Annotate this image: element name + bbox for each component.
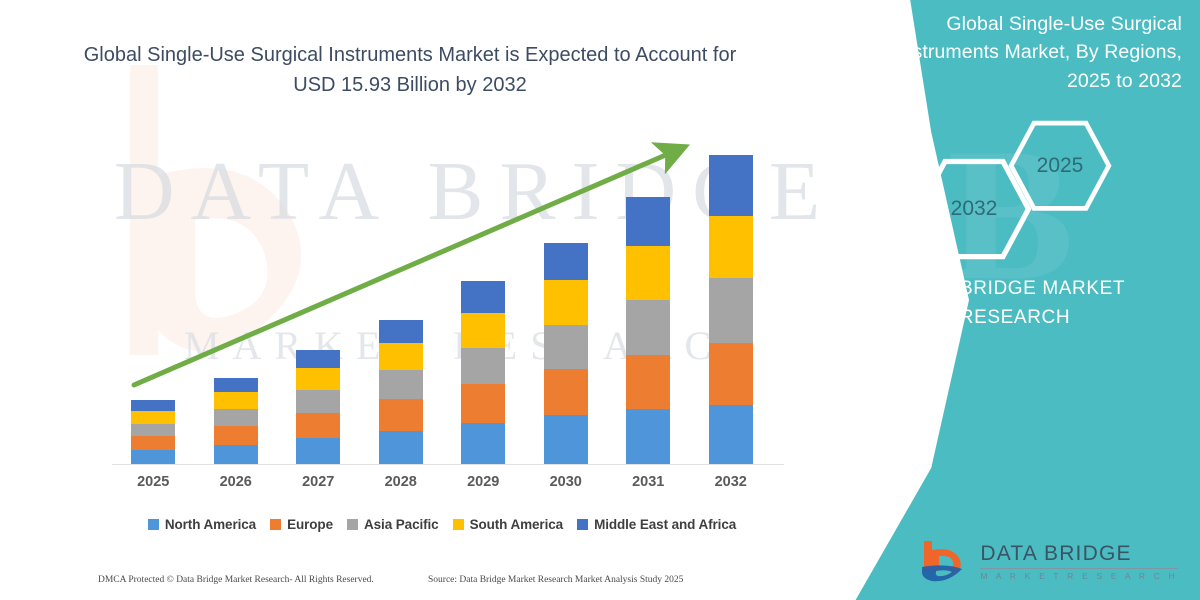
chart-baseline <box>112 464 784 465</box>
hexagon-2025-label: 2025 <box>1037 154 1084 178</box>
hexagon-year-2025: 2025 <box>1008 120 1112 212</box>
x-tick-2027: 2027 <box>283 474 353 490</box>
bar-segment[interactable] <box>214 426 258 445</box>
x-axis-labels: 20252026202720282029203020312032 <box>112 474 784 498</box>
legend-swatch <box>270 519 281 530</box>
bar-2031[interactable] <box>626 197 670 465</box>
bar-segment[interactable] <box>544 243 588 280</box>
legend-label: Europe <box>287 517 333 532</box>
legend-label: Middle East and Africa <box>594 517 736 532</box>
bar-segment[interactable] <box>379 370 423 399</box>
bar-segment[interactable] <box>709 216 753 278</box>
bar-segment[interactable] <box>461 423 505 465</box>
x-tick-2030: 2030 <box>531 474 601 490</box>
bar-2025[interactable] <box>131 400 175 465</box>
x-tick-2028: 2028 <box>366 474 436 490</box>
chart-legend: North AmericaEuropeAsia PacificSouth Ame… <box>112 513 772 535</box>
bar-segment[interactable] <box>709 155 753 216</box>
bar-segment[interactable] <box>626 355 670 409</box>
bar-segment[interactable] <box>214 409 258 426</box>
bar-segment[interactable] <box>709 343 753 405</box>
dbmr-logo-mark-icon <box>918 538 970 586</box>
hexagon-2032-label: 2032 <box>951 197 998 221</box>
bar-segment[interactable] <box>379 399 423 431</box>
legend-item-europe[interactable]: Europe <box>270 517 333 532</box>
bar-segment[interactable] <box>626 197 670 246</box>
x-tick-2025: 2025 <box>118 474 188 490</box>
legend-swatch <box>577 519 588 530</box>
legend-label: South America <box>470 517 563 532</box>
legend-item-south-america[interactable]: South America <box>453 517 563 532</box>
footer: DMCA Protected © Data Bridge Market Rese… <box>0 570 800 590</box>
bar-segment[interactable] <box>131 411 175 424</box>
bar-segment[interactable] <box>626 409 670 465</box>
footer-copyright: DMCA Protected © Data Bridge Market Rese… <box>98 575 374 585</box>
bar-2032[interactable] <box>709 155 753 465</box>
bar-2026[interactable] <box>214 378 258 465</box>
bar-segment[interactable] <box>709 405 753 465</box>
panel-brand-line-1: DATA BRIDGE MARKET <box>905 278 1125 299</box>
bar-segment[interactable] <box>214 392 258 409</box>
dbmr-logo: DATA BRIDGE M A R K E T R E S E A R C H <box>918 538 1178 586</box>
legend-label: North America <box>165 517 256 532</box>
bar-chart-plot-area <box>112 130 772 465</box>
bar-segment[interactable] <box>544 415 588 465</box>
panel-title: Global Single-Use Surgical Instruments M… <box>892 10 1182 95</box>
bar-segment[interactable] <box>296 438 340 465</box>
bar-segment[interactable] <box>379 431 423 465</box>
bar-segment[interactable] <box>544 369 588 415</box>
bar-segment[interactable] <box>296 350 340 368</box>
page-title: Global Single-Use Surgical Instruments M… <box>70 40 750 101</box>
legend-swatch <box>148 519 159 530</box>
bar-2029[interactable] <box>461 281 505 465</box>
legend-item-north-america[interactable]: North America <box>148 517 256 532</box>
bar-segment[interactable] <box>131 436 175 450</box>
bar-segment[interactable] <box>131 450 175 465</box>
bar-segment[interactable] <box>214 378 258 392</box>
bar-segment[interactable] <box>296 390 340 413</box>
logo-name-secondary: M A R K E T R E S E A R C H <box>980 568 1178 581</box>
legend-swatch <box>453 519 464 530</box>
legend-item-middle-east-and-africa[interactable]: Middle East and Africa <box>577 517 736 532</box>
legend-item-asia-pacific[interactable]: Asia Pacific <box>347 517 439 532</box>
bar-segment[interactable] <box>461 313 505 348</box>
bar-segment[interactable] <box>461 281 505 312</box>
dbmr-logo-text: DATA BRIDGE M A R K E T R E S E A R C H <box>980 543 1178 581</box>
x-tick-2029: 2029 <box>448 474 518 490</box>
bar-segment[interactable] <box>214 445 258 465</box>
footer-source: Source: Data Bridge Market Research Mark… <box>428 575 683 585</box>
bar-segment[interactable] <box>461 348 505 384</box>
bar-segment[interactable] <box>709 278 753 342</box>
bar-segment[interactable] <box>296 413 340 438</box>
panel-brand-line-2: RESEARCH <box>865 304 1165 333</box>
legend-swatch <box>347 519 358 530</box>
bar-segment[interactable] <box>379 343 423 370</box>
logo-name-primary: DATA BRIDGE <box>980 543 1178 565</box>
bar-2027[interactable] <box>296 350 340 465</box>
bar-segment[interactable] <box>379 320 423 343</box>
x-tick-2026: 2026 <box>201 474 271 490</box>
x-tick-2031: 2031 <box>613 474 683 490</box>
bar-segment[interactable] <box>626 300 670 354</box>
x-tick-2032: 2032 <box>696 474 766 490</box>
bar-2028[interactable] <box>379 320 423 465</box>
panel-brand-text: DATA BRIDGE MARKET RESEARCH <box>865 275 1165 332</box>
bar-segment[interactable] <box>131 424 175 436</box>
bar-segment[interactable] <box>544 325 588 369</box>
bar-segment[interactable] <box>461 384 505 423</box>
bar-segment[interactable] <box>296 368 340 390</box>
bar-segment[interactable] <box>131 400 175 411</box>
bar-2030[interactable] <box>544 243 588 465</box>
bar-segment[interactable] <box>544 280 588 324</box>
legend-label: Asia Pacific <box>364 517 439 532</box>
bar-segment[interactable] <box>626 246 670 300</box>
